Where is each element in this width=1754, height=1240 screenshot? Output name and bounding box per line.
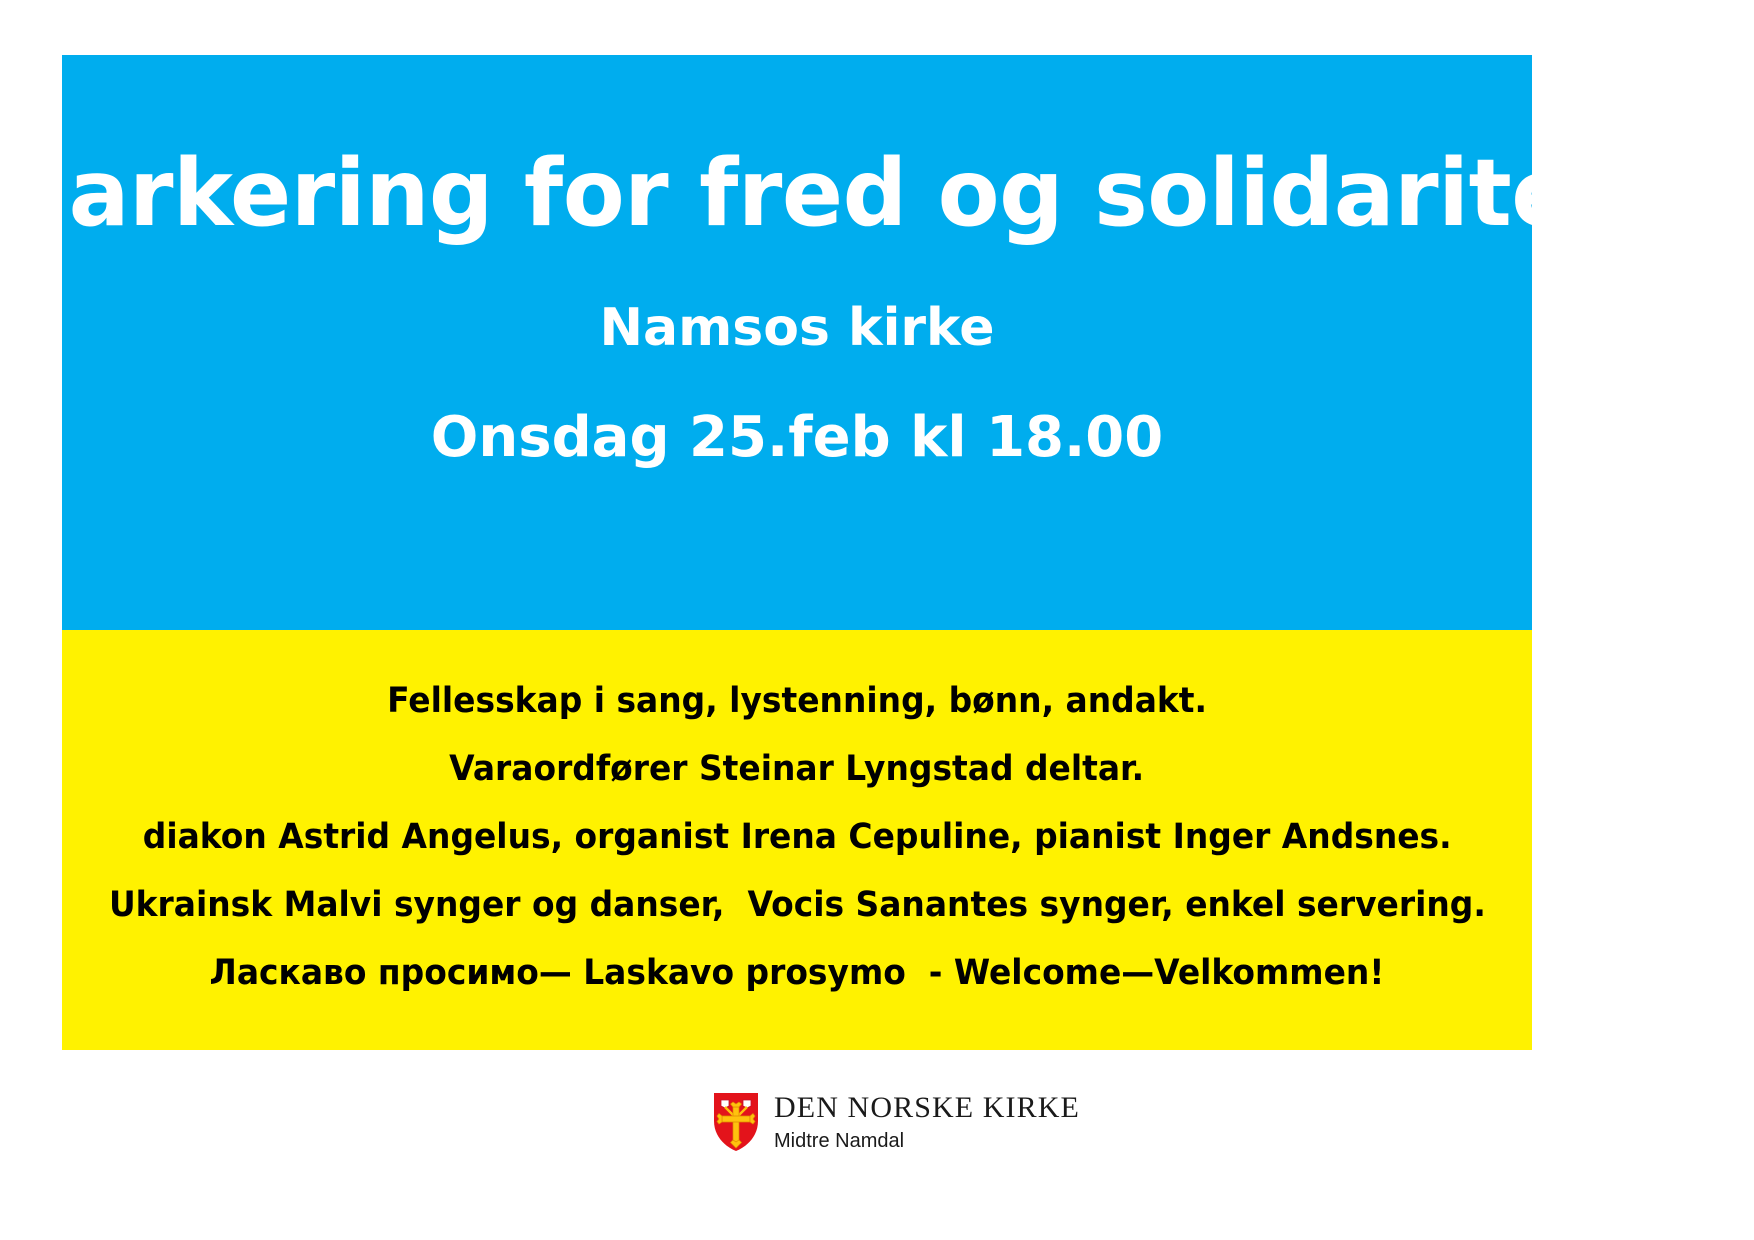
venue-label: Namsos kirke bbox=[599, 302, 994, 354]
detail-line-welcome: Ласкаво просимо— Laskavo prosymo - Welco… bbox=[210, 956, 1385, 991]
blue-banner-section: Markering for fred og solidaritet Namsos… bbox=[62, 55, 1532, 630]
church-logo: DEN NORSKE KIRKE Midtre Namdal bbox=[686, 1078, 1108, 1166]
poster-canvas: Markering for fred og solidaritet Namsos… bbox=[0, 0, 1754, 1240]
church-organization-name: DEN NORSKE KIRKE bbox=[774, 1093, 1080, 1123]
detail-line-performers: Ukrainsk Malvi synger og danser, Vocis S… bbox=[109, 888, 1486, 923]
page-title: Markering for fred og solidaritet bbox=[0, 147, 1615, 240]
yellow-details-section: Fellesskap i sang, lystenning, bønn, and… bbox=[62, 630, 1532, 1050]
detail-line-participants: diakon Astrid Angelus, organist Irena Ce… bbox=[143, 820, 1452, 855]
detail-line-activities: Fellesskap i sang, lystenning, bønn, and… bbox=[387, 684, 1207, 719]
detail-line-deputy-mayor: Varaordfører Steinar Lyngstad deltar. bbox=[450, 752, 1145, 787]
church-region-name: Midtre Namdal bbox=[774, 1131, 1080, 1151]
norwegian-church-shield-icon bbox=[712, 1091, 760, 1153]
church-logo-text: DEN NORSKE KIRKE Midtre Namdal bbox=[774, 1093, 1080, 1151]
datetime-label: Onsdag 25.feb kl 18.00 bbox=[431, 410, 1163, 466]
